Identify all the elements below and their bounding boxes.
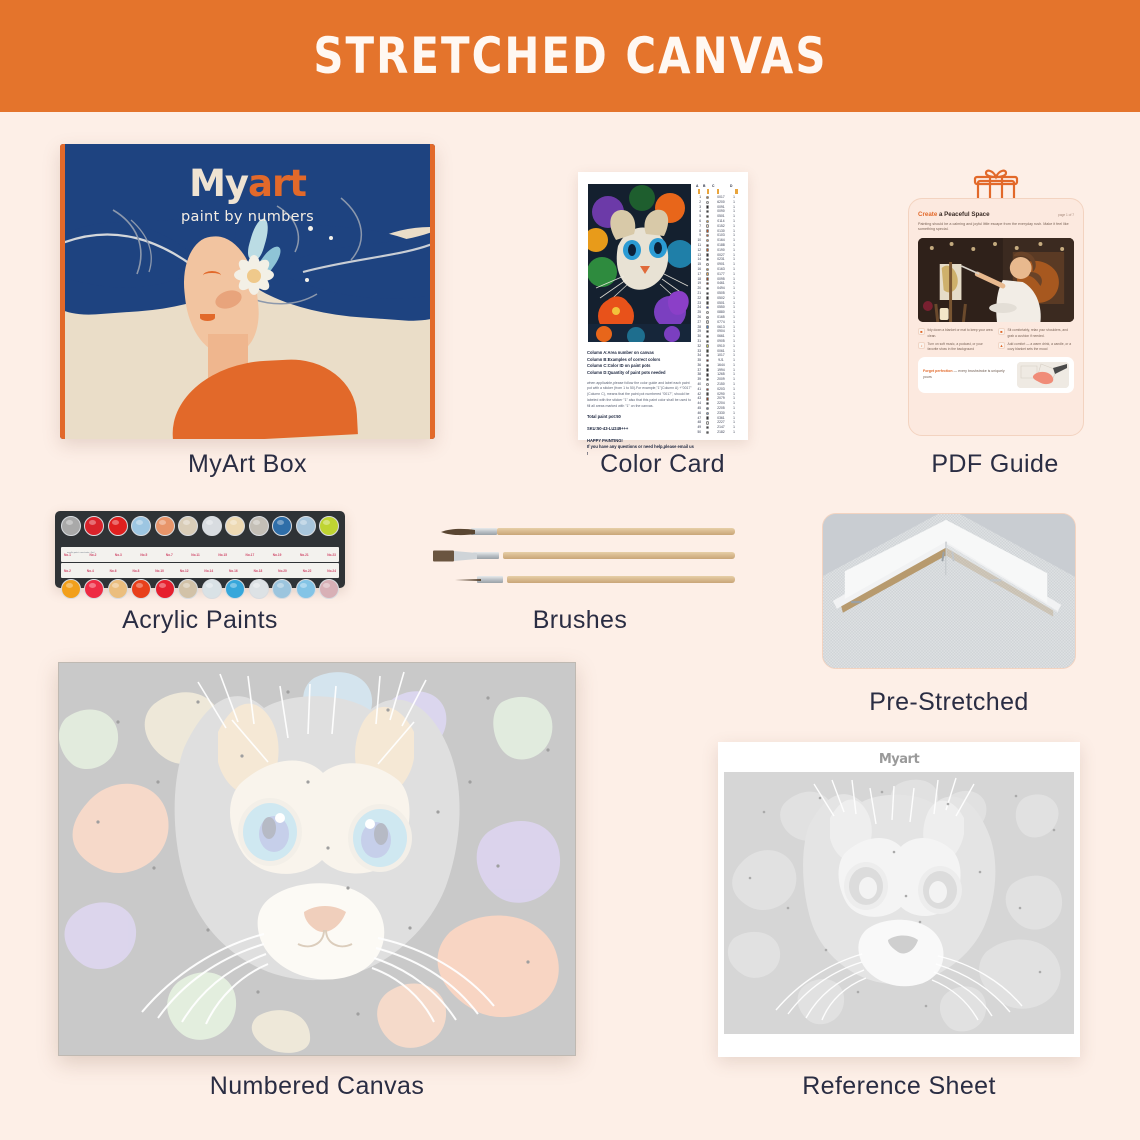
reference-sheet-artwork — [724, 772, 1074, 1034]
paint-pot — [84, 579, 104, 599]
tip-text: Add comfort — a warm drink, a candle, or… — [1008, 342, 1075, 352]
color-swatch — [703, 402, 712, 405]
paint-number-label: No.5 — [140, 553, 147, 557]
paint-number-label: No.2 — [64, 569, 71, 573]
callout-text: Forget perfection — every brushstroke is… — [923, 369, 1012, 380]
color-swatch — [703, 392, 712, 395]
color-swatch — [703, 258, 712, 261]
row-number: 50 — [696, 430, 703, 435]
daisy-flower-icon — [232, 254, 276, 298]
paint-pot — [319, 516, 339, 536]
caption-reference-sheet: Reference Sheet — [718, 1072, 1080, 1101]
color-swatch — [703, 311, 712, 314]
color-swatch — [703, 383, 712, 386]
paint-pot — [178, 579, 198, 599]
tip-text: Turn on soft music, a podcast, or your f… — [928, 342, 995, 352]
color-swatch — [703, 412, 712, 415]
color-swatch — [703, 277, 712, 280]
box-face: Myart paint by numbers — [65, 144, 430, 439]
numbered-canvas-image — [58, 662, 576, 1056]
color-swatch — [703, 215, 712, 218]
color-swatch — [703, 244, 712, 247]
reference-sheet-image: Myart — [718, 742, 1080, 1057]
color-swatch — [703, 349, 712, 352]
color-swatch — [703, 268, 712, 271]
color-swatch — [703, 368, 712, 371]
brushes-image — [425, 522, 735, 590]
tip-item: ■ Sit comfortably, relax your shoulders,… — [998, 328, 1074, 338]
color-swatch — [703, 330, 712, 333]
brush-liner — [455, 576, 735, 583]
lips — [200, 314, 215, 321]
color-swatch — [703, 373, 712, 376]
color-card-text: Column A:Area number on canvas Column B:… — [587, 350, 695, 458]
color-id: 2182 — [712, 430, 730, 435]
paint-pot — [155, 579, 175, 599]
paint-number-label: No.7 — [166, 553, 173, 557]
sparkle-dot — [308, 226, 313, 231]
caption-color-card: Color Card — [540, 450, 785, 479]
color-swatch — [703, 407, 712, 410]
paint-number-label: No.15 — [218, 553, 227, 557]
paint-pot — [249, 516, 269, 536]
pdf-guide-photo — [918, 238, 1074, 322]
paint-pot — [249, 579, 269, 599]
color-swatch — [703, 287, 712, 290]
color-card-artwork — [588, 184, 691, 342]
paint-pot — [272, 579, 292, 599]
paint-number-label: No.17 — [246, 553, 255, 557]
caption-pre-stretched: Pre-Stretched — [822, 688, 1076, 717]
paint-number-label: No.22 — [303, 569, 312, 573]
pdf-page-label: page 1 of 7 — [1058, 213, 1074, 217]
paint-label-strip-2: No.2No.4No.6No.8No.10No.12No.14No.16No.1… — [61, 563, 339, 578]
paint-pot — [319, 579, 339, 599]
sparkle-dot — [305, 278, 309, 282]
drink-icon: ▲ — [998, 342, 1005, 349]
table-header-row: A B C D — [696, 184, 742, 188]
color-swatch — [703, 220, 712, 223]
paint-number-label: No.8 — [132, 569, 139, 573]
numbered-canvas-artwork — [58, 662, 576, 1056]
caption-numbered-canvas: Numbered Canvas — [58, 1072, 576, 1101]
color-swatch — [703, 335, 712, 338]
color-swatch — [703, 272, 712, 275]
col-header-b: B — [703, 184, 712, 188]
paint-pot — [155, 516, 175, 536]
paint-row-bottom — [61, 579, 339, 609]
color-swatch — [703, 421, 712, 424]
myart-box-image: Myart paint by numbers — [60, 144, 435, 439]
chair-icon: ■ — [998, 328, 1005, 335]
table-header-bars — [696, 189, 742, 194]
caption-acrylic-paints: Acrylic Paints — [55, 606, 345, 635]
color-swatch — [703, 426, 712, 429]
color-swatch — [703, 239, 712, 242]
color-swatch — [703, 378, 712, 381]
pre-stretched-image — [822, 513, 1076, 669]
total-paint-pots: Total paint pot:50 — [587, 414, 695, 421]
paint-number-label: No.18 — [254, 569, 263, 573]
box-logo: Myart paint by numbers — [65, 162, 430, 225]
tip-text: Sit comfortably, relax your shoulders, a… — [1008, 328, 1075, 338]
color-swatch — [703, 224, 712, 227]
color-swatch — [703, 210, 712, 213]
color-swatch — [703, 296, 712, 299]
paint-label-strip-1: acrylic paint • non-toxic • 3ml No.1No.2… — [61, 547, 339, 562]
paint-label-fineprint: acrylic paint • non-toxic • 3ml — [67, 552, 94, 554]
pdf-guide-tips: ■ tidy down a blanket or mat to keep you… — [918, 328, 1074, 351]
paint-pot — [61, 579, 81, 599]
tip-text: tidy down a blanket or mat to keep your … — [928, 328, 995, 338]
col-header-a: A — [696, 184, 703, 188]
tip-item: ♪ Turn on soft music, a podcast, or your… — [918, 342, 994, 352]
color-swatch — [703, 340, 712, 343]
color-swatch — [703, 388, 712, 391]
brush-flat — [433, 552, 735, 559]
column-a-desc: Column A:Area number on canvas — [587, 350, 695, 357]
tip-item: ■ tidy down a blanket or mat to keep you… — [918, 328, 994, 338]
column-b-desc: Column B:Examples of correct colors — [587, 357, 695, 364]
color-swatch — [703, 196, 712, 199]
paint-pot — [108, 516, 128, 536]
color-swatch — [703, 364, 712, 367]
color-card-instructions: when applicable,please follow the color … — [587, 381, 695, 410]
sku-code: SKU:50-43-LU249+++ — [587, 426, 695, 433]
color-swatch — [703, 359, 712, 362]
paint-number-label: No.23 — [327, 553, 336, 557]
color-swatch — [703, 431, 712, 434]
paint-number-label: No.21 — [300, 553, 309, 557]
paint-pot — [202, 579, 222, 599]
col-header-c: C — [712, 184, 730, 188]
paint-number-label: No.6 — [110, 569, 117, 573]
canvas-corner-illustration — [823, 514, 1075, 668]
reference-sheet-logo: Myart — [724, 748, 1074, 772]
color-swatch — [703, 234, 712, 237]
color-swatch — [703, 205, 712, 208]
paint-pot — [84, 516, 104, 536]
broom-icon: ■ — [918, 328, 925, 335]
caption-brushes: Brushes — [425, 606, 735, 635]
paint-pot — [131, 516, 151, 536]
color-swatch — [703, 201, 712, 204]
quantity: 1 — [730, 430, 738, 435]
color-reference-table: A B C D 10017126200130091140090150501160… — [696, 184, 742, 435]
paint-pot — [202, 516, 222, 536]
color-swatch — [703, 320, 712, 323]
music-icon: ♪ — [918, 342, 925, 349]
box-edge-right — [430, 144, 435, 439]
color-swatch — [703, 263, 712, 266]
color-swatch — [703, 306, 712, 309]
paint-pot — [296, 579, 316, 599]
paint-pot — [225, 579, 245, 599]
page-header: STRETCHED CANVAS — [0, 0, 1140, 112]
callout-thumbnail — [1017, 362, 1069, 388]
column-c-desc: Column C:Color ID on paint pots — [587, 363, 695, 370]
color-card-image: Column A:Area number on canvas Column B:… — [578, 172, 748, 440]
color-swatch — [703, 292, 712, 295]
eyebrow — [203, 271, 221, 280]
paint-pot — [131, 579, 151, 599]
paint-row-top — [61, 516, 339, 546]
acrylic-paints-image: acrylic paint • non-toxic • 3ml No.1No.2… — [55, 511, 345, 588]
color-swatch — [703, 397, 712, 400]
box-edge-left — [60, 144, 65, 439]
color-swatch — [703, 325, 712, 328]
color-table-row: 5021821 — [696, 430, 742, 435]
paint-pot — [272, 516, 292, 536]
column-d-desc: Column D:Quantity of paint pots needed — [587, 370, 695, 377]
paint-pot — [108, 579, 128, 599]
paint-number-label: No.4 — [87, 569, 94, 573]
caption-myart-box: MyArt Box — [60, 450, 435, 479]
pdf-guide-subtitle: Painting should be a calming and joyful … — [918, 222, 1074, 234]
paint-pot — [178, 516, 198, 536]
happy-painting-text: HAPPY PAINTING! — [587, 438, 695, 445]
paint-number-label: No.14 — [204, 569, 213, 573]
paint-pot — [61, 516, 81, 536]
paint-pot — [225, 516, 245, 536]
box-tagline: paint by numbers — [65, 209, 430, 225]
page-title: STRETCHED CANVAS — [313, 27, 827, 85]
pdf-guide-image: Create a Peaceful Space page 1 of 7 Pain… — [908, 168, 1084, 436]
color-swatch — [703, 253, 712, 256]
paint-number-label: No.10 — [155, 569, 164, 573]
color-swatch — [703, 344, 712, 347]
color-swatch — [703, 354, 712, 357]
pdf-guide-callout: Forget perfection — every brushstroke is… — [918, 357, 1074, 393]
paint-number-label: No.16 — [229, 569, 238, 573]
pdf-guide-title: Create a Peaceful Space — [918, 211, 990, 218]
pdf-guide-card: Create a Peaceful Space page 1 of 7 Pain… — [908, 198, 1084, 436]
color-swatch — [703, 416, 712, 419]
caption-pdf-guide: PDF Guide — [880, 450, 1110, 479]
color-swatch — [703, 282, 712, 285]
paint-pot — [296, 516, 316, 536]
paint-number-label: No.3 — [115, 553, 122, 557]
paint-number-label: No.19 — [273, 553, 282, 557]
color-swatch — [703, 301, 712, 304]
tip-item: ▲ Add comfort — a warm drink, a candle, … — [998, 342, 1074, 352]
box-logo-text: Myart — [65, 162, 430, 205]
sparkle-dot — [329, 236, 333, 240]
color-swatch — [703, 316, 712, 319]
paint-number-label: No.24 — [327, 569, 336, 573]
brush-round — [441, 528, 735, 535]
paint-number-label: No.12 — [180, 569, 189, 573]
table-body: 1001712620013009114009015050116011417015… — [696, 195, 742, 435]
paint-number-label: No.11 — [191, 553, 200, 557]
paint-number-label: No.20 — [278, 569, 287, 573]
color-swatch — [703, 248, 712, 251]
color-swatch — [703, 229, 712, 232]
col-header-d: D — [730, 184, 738, 188]
